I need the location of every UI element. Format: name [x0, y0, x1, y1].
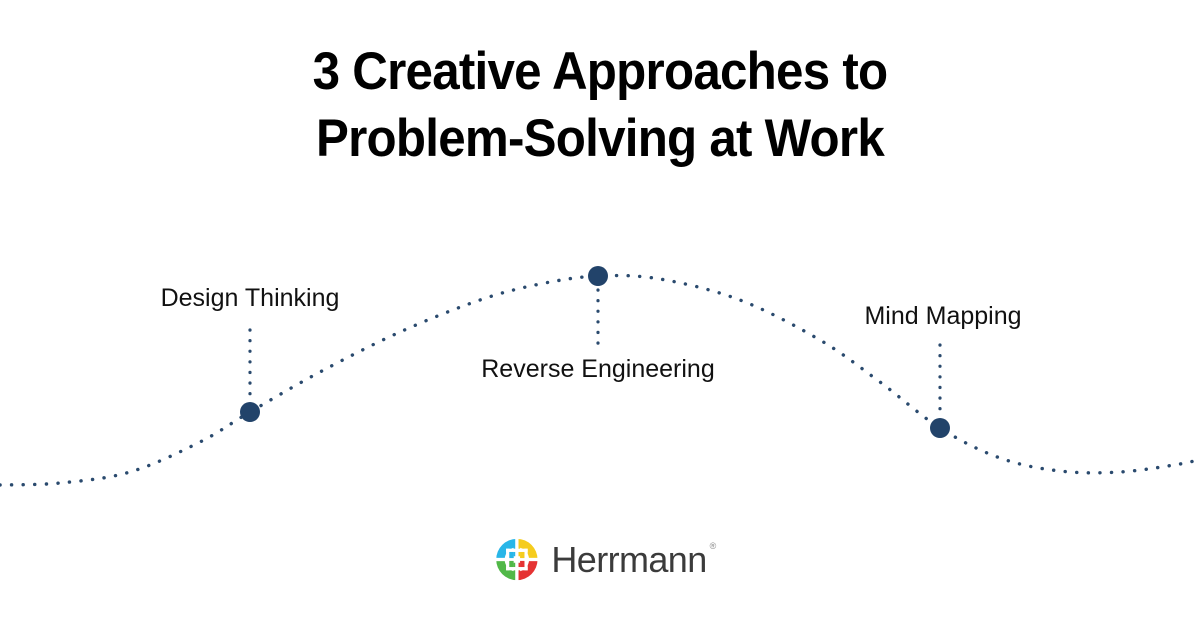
marker-dots [240, 266, 950, 438]
marker-dot-2 [930, 418, 950, 438]
page-title-line-2: Problem-Solving at Work [42, 105, 1158, 172]
brand-name-text: Herrmann [551, 539, 706, 580]
marker-dot-1 [588, 266, 608, 286]
marker-stems [250, 290, 940, 415]
page-title-line-1: 3 Creative Approaches to [42, 38, 1158, 105]
point-label-mind-mapping: Mind Mapping [864, 301, 1021, 331]
poster-canvas: 3 Creative Approaches to Problem-Solving… [0, 0, 1200, 627]
brand-wordmark: Herrmann ® [551, 540, 706, 580]
page-title: 3 Creative Approaches to Problem-Solving… [0, 38, 1200, 172]
point-label-reverse-engineering: Reverse Engineering [481, 354, 714, 384]
herrmann-logo-icon [493, 536, 540, 583]
brand-lockup: Herrmann ® [493, 536, 706, 583]
point-label-design-thinking: Design Thinking [161, 283, 340, 313]
registered-trademark-icon: ® [710, 542, 716, 551]
marker-dot-0 [240, 402, 260, 422]
